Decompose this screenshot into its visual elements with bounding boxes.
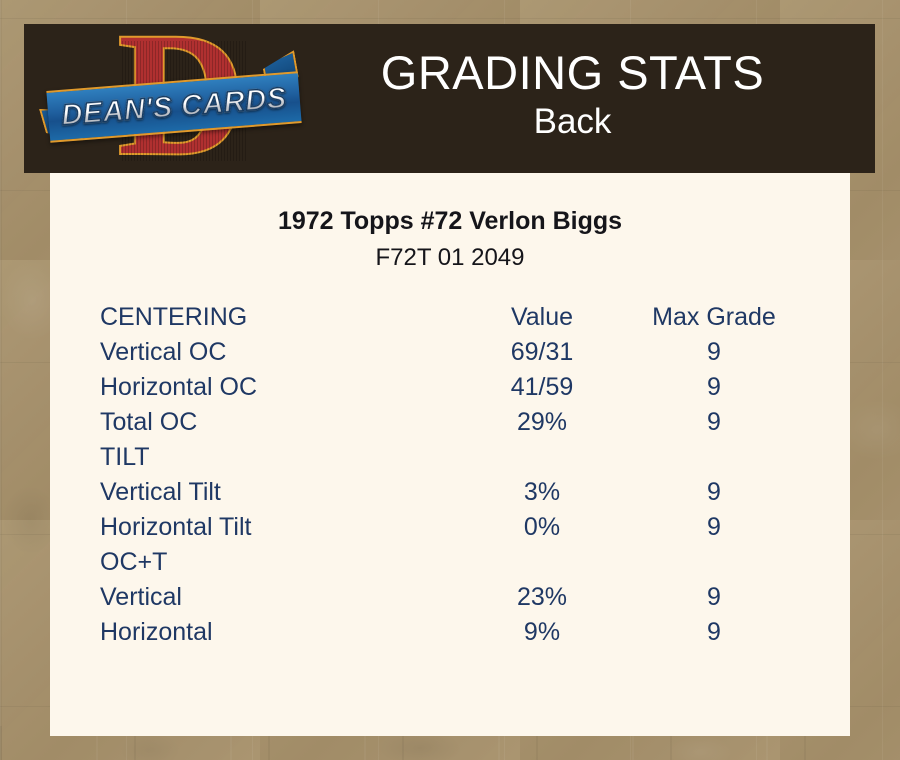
stat-value: 23% bbox=[456, 580, 628, 615]
table-row: Vertical23%9 bbox=[100, 580, 800, 615]
stat-value: 0% bbox=[456, 510, 628, 545]
table-row: Vertical Tilt3%9 bbox=[100, 475, 800, 510]
section-title: TILT bbox=[100, 440, 456, 475]
stat-label: Vertical bbox=[100, 580, 456, 615]
section-header-row: CENTERINGValueMax Grade bbox=[100, 300, 800, 335]
stat-max-grade: 9 bbox=[628, 370, 800, 405]
table-row: Horizontal Tilt0%9 bbox=[100, 510, 800, 545]
table-row: Horizontal9%9 bbox=[100, 615, 800, 650]
stat-label: Horizontal Tilt bbox=[100, 510, 456, 545]
stat-label: Horizontal bbox=[100, 615, 456, 650]
card-serial-number: F72T 01 2049 bbox=[50, 244, 850, 272]
logo-ribbon: DEAN'S CARDS bbox=[46, 71, 301, 143]
table-row: Vertical OC69/319 bbox=[100, 335, 800, 370]
stat-label: Vertical Tilt bbox=[100, 475, 456, 510]
section-title: OC+T bbox=[100, 545, 456, 580]
grading-stats-table: CENTERINGValueMax GradeVertical OC69/319… bbox=[100, 300, 800, 650]
column-header-max-grade: Max Grade bbox=[628, 300, 800, 335]
stat-max-grade: 9 bbox=[628, 335, 800, 370]
header-bar: D DEAN'S CARDS GRADING STATS Back bbox=[24, 24, 875, 173]
section-value-spacer bbox=[456, 545, 628, 580]
section-header-row: TILT bbox=[100, 440, 800, 475]
stat-label: Horizontal OC bbox=[100, 370, 456, 405]
deans-cards-logo[interactable]: D DEAN'S CARDS bbox=[46, 29, 304, 169]
section-value-spacer bbox=[456, 440, 628, 475]
section-grade-spacer bbox=[628, 545, 800, 580]
page-title: GRADING STATS bbox=[304, 48, 841, 97]
stat-value: 41/59 bbox=[456, 370, 628, 405]
stat-label: Total OC bbox=[100, 405, 456, 440]
page-subtitle: Back bbox=[304, 99, 841, 145]
stat-value: 69/31 bbox=[456, 335, 628, 370]
stat-max-grade: 9 bbox=[628, 510, 800, 545]
card-title: 1972 Topps #72 Verlon Biggs bbox=[50, 207, 850, 236]
section-header-row: OC+T bbox=[100, 545, 800, 580]
section-title: CENTERING bbox=[100, 300, 456, 335]
column-header-value: Value bbox=[456, 300, 628, 335]
logo-wordmark: DEAN'S CARDS bbox=[60, 81, 287, 132]
table-row: Total OC29%9 bbox=[100, 405, 800, 440]
header-title-group: GRADING STATS Back bbox=[304, 48, 875, 149]
table-row: Horizontal OC41/599 bbox=[100, 370, 800, 405]
content-panel: 1972 Topps #72 Verlon Biggs F72T 01 2049… bbox=[50, 173, 850, 736]
stat-max-grade: 9 bbox=[628, 475, 800, 510]
stat-max-grade: 9 bbox=[628, 615, 800, 650]
stat-label: Vertical OC bbox=[100, 335, 456, 370]
stat-max-grade: 9 bbox=[628, 405, 800, 440]
stat-value: 29% bbox=[456, 405, 628, 440]
stat-value: 9% bbox=[456, 615, 628, 650]
stat-max-grade: 9 bbox=[628, 580, 800, 615]
section-grade-spacer bbox=[628, 440, 800, 475]
stat-value: 3% bbox=[456, 475, 628, 510]
